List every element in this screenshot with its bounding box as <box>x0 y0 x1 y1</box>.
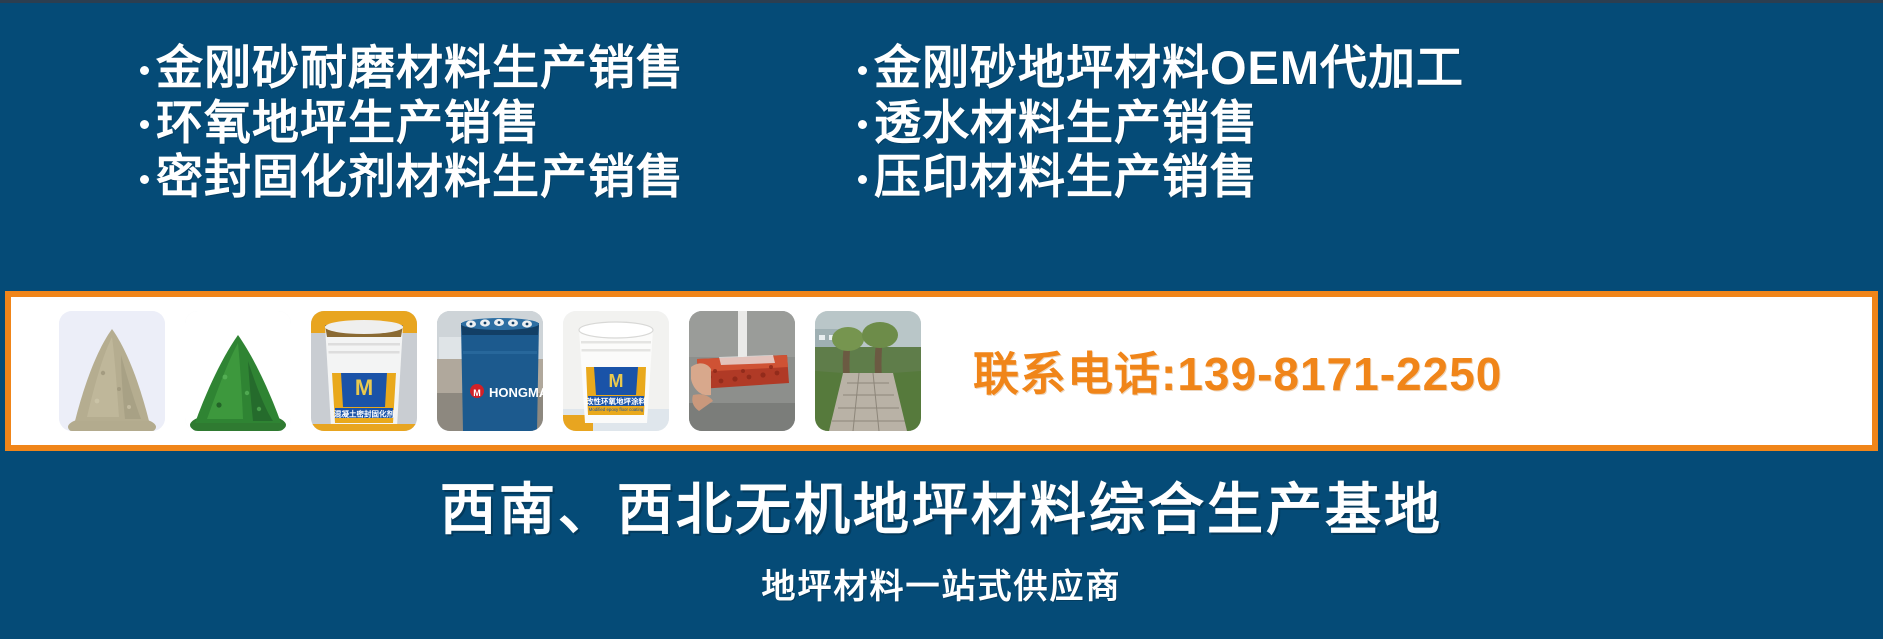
contact-phone[interactable]: 联系电话:139-8171-2250 <box>973 338 1502 404</box>
bullet-icon <box>140 66 149 75</box>
feature-item: 金刚砂地坪材料OEM代加工 <box>858 41 1858 96</box>
bullet-icon <box>858 175 867 184</box>
grey-powder-image <box>59 311 165 431</box>
bullet-icon <box>140 120 149 129</box>
feature-label: 环氧地坪生产销售 <box>156 96 540 151</box>
svg-text:M: M <box>609 371 624 391</box>
hongma-drum-image: M HONGMA <box>437 311 543 431</box>
product-thumb-hongma-blue-drum[interactable]: M HONGMA <box>437 311 543 431</box>
svg-text:混凝土密封固化剂: 混凝土密封固化剂 <box>334 409 394 419</box>
feature-label: 压印材料生产销售 <box>874 150 1258 205</box>
feature-item: 压印材料生产销售 <box>858 150 1858 205</box>
footer-subline: 地坪材料一站式供应商 <box>0 559 1883 608</box>
product-thumb-grey-wear-resistant-powder[interactable] <box>59 311 165 431</box>
feature-item: 金刚砂耐磨材料生产销售 <box>140 41 840 96</box>
feature-item: 密封固化剂材料生产销售 <box>140 150 840 205</box>
feature-item: 透水材料生产销售 <box>858 96 1858 151</box>
bullet-icon <box>140 175 149 184</box>
feature-lists: 金刚砂耐磨材料生产销售 环氧地坪生产销售 密封固化剂材料生产销售 金刚砂地坪材料… <box>0 41 1883 205</box>
product-thumb-modified-epoxy-floor-coating-pail[interactable]: M 改性环氧地坪涂料 Modified epoxy floor coating <box>563 311 669 431</box>
product-thumb-stamped-concrete-walkway[interactable] <box>815 311 921 431</box>
product-thumb-permeable-red-aggregate-slab[interactable] <box>689 311 795 431</box>
permeable-slab-image <box>689 311 795 431</box>
curing-agent-pail-image: M 混凝土密封固化剂 <box>311 311 417 431</box>
feature-label: 密封固化剂材料生产销售 <box>156 150 684 205</box>
advertisement-banner: 金刚砂耐磨材料生产销售 环氧地坪生产销售 密封固化剂材料生产销售 金刚砂地坪材料… <box>0 0 1883 639</box>
product-thumbnail-list: M 混凝土密封固化剂 <box>59 311 921 431</box>
svg-text:M: M <box>473 388 481 398</box>
svg-text:改性环氧地坪涂料: 改性环氧地坪涂料 <box>586 396 646 406</box>
product-thumb-green-wear-resistant-powder[interactable] <box>185 311 291 431</box>
svg-text:Modified epoxy floor coating: Modified epoxy floor coating <box>589 407 644 412</box>
bullet-icon <box>858 120 867 129</box>
feature-column-left: 金刚砂耐磨材料生产销售 环氧地坪生产销售 密封固化剂材料生产销售 <box>140 41 840 205</box>
green-powder-image <box>185 311 291 431</box>
product-strip: M 混凝土密封固化剂 <box>5 291 1878 451</box>
feature-item: 环氧地坪生产销售 <box>140 96 840 151</box>
epoxy-coating-pail-image: M 改性环氧地坪涂料 Modified epoxy floor coating <box>563 311 669 431</box>
feature-label: 透水材料生产销售 <box>874 96 1258 151</box>
bullet-icon <box>858 66 867 75</box>
svg-text:M: M <box>355 375 373 400</box>
feature-label: 金刚砂耐磨材料生产销售 <box>156 41 684 96</box>
footer-headline: 西南、西北无机地坪材料综合生产基地 <box>0 465 1883 546</box>
product-thumb-concrete-seal-curing-agent-pail[interactable]: M 混凝土密封固化剂 <box>311 311 417 431</box>
stamped-walkway-image <box>815 311 921 431</box>
svg-text:HONGMA: HONGMA <box>489 385 543 400</box>
feature-label: 金刚砂地坪材料OEM代加工 <box>874 41 1464 96</box>
feature-column-right: 金刚砂地坪材料OEM代加工 透水材料生产销售 压印材料生产销售 <box>858 41 1858 205</box>
